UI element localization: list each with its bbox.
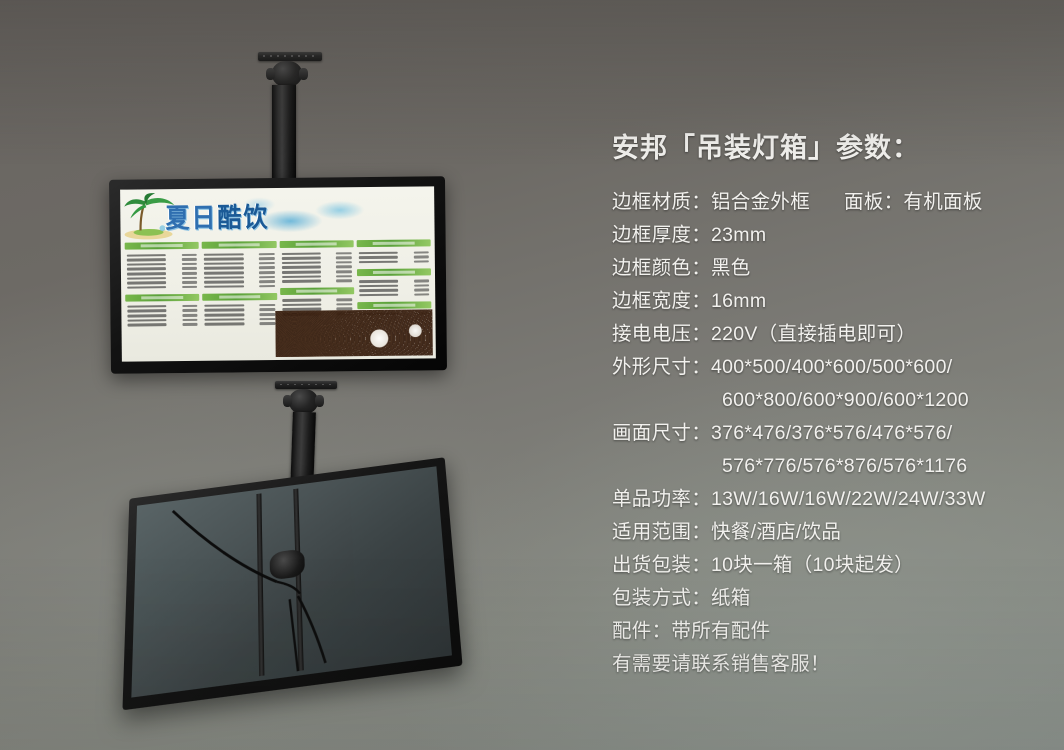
rear-panel bbox=[131, 466, 452, 697]
spec-line-outer-size-cont: 600*800/600*900/600*1200 bbox=[612, 384, 1042, 417]
menu-row bbox=[127, 285, 197, 289]
menu-row bbox=[127, 271, 197, 275]
menu-row bbox=[127, 323, 197, 327]
menu-rows bbox=[202, 251, 277, 290]
spec-line-picture-size-cont: 576*776/576*876/576*1176 bbox=[612, 450, 1042, 483]
menu-row bbox=[359, 260, 429, 264]
menu-row bbox=[359, 255, 429, 259]
spec-title: 安邦「吊装灯箱」参数： bbox=[612, 126, 1042, 165]
poster-hero: 夏日酷饮 bbox=[120, 186, 435, 246]
product-photo-canvas: 夏日酷饮 bbox=[0, 0, 1064, 750]
light-box-upper: 夏日酷饮 bbox=[109, 176, 447, 374]
menu-row bbox=[281, 265, 351, 269]
menu-row bbox=[281, 261, 351, 265]
menu-row bbox=[282, 303, 352, 307]
menu-section-header bbox=[356, 240, 430, 248]
menu-section-header bbox=[357, 268, 431, 276]
swivel-joint-icon bbox=[272, 61, 302, 87]
menu-row bbox=[282, 274, 352, 278]
spec-line-shipping-pack: 出货包装：10块一箱（10块起发） bbox=[612, 549, 1042, 582]
poster-headline-sub: 酷饮 bbox=[217, 203, 269, 234]
menu-row bbox=[127, 267, 197, 271]
joint-nub-icon bbox=[283, 395, 292, 407]
menu-row bbox=[127, 276, 197, 280]
power-cable-icon bbox=[131, 466, 452, 697]
menu-section-header bbox=[279, 241, 353, 249]
menu-row bbox=[359, 288, 429, 292]
menu-column bbox=[125, 242, 200, 359]
menu-row bbox=[127, 258, 197, 262]
drop-pole bbox=[272, 85, 296, 183]
spec-panel-material: 面板：有机面板 bbox=[844, 191, 983, 213]
ceiling-plate-icon bbox=[275, 381, 337, 389]
menu-row bbox=[204, 280, 274, 284]
spec-line-outer-size: 外形尺寸：400*500/400*600/500*600/ bbox=[612, 351, 1042, 384]
menu-row bbox=[205, 317, 275, 321]
coffee-photo bbox=[275, 309, 432, 357]
menu-rows bbox=[125, 303, 200, 328]
spec-line-frame-material: 边框材质：铝合金外框面板：有机面板 bbox=[612, 186, 1042, 219]
menu-row bbox=[204, 275, 274, 279]
menu-row bbox=[204, 252, 274, 256]
menu-row bbox=[127, 281, 197, 285]
menu-row bbox=[282, 298, 352, 302]
joint-nub-icon bbox=[299, 68, 308, 80]
menu-rows bbox=[356, 250, 430, 266]
menu-section-header bbox=[280, 287, 354, 295]
menu-row bbox=[205, 322, 275, 326]
menu-row bbox=[127, 318, 197, 322]
rear-frame bbox=[122, 457, 462, 710]
menu-rows bbox=[203, 303, 278, 328]
menu-section-header bbox=[357, 301, 431, 309]
spec-line-power: 单品功率：13W/16W/16W/22W/24W/33W bbox=[612, 483, 1042, 516]
spec-line-accessories: 配件：带所有配件 bbox=[612, 615, 1042, 648]
spec-line-frame-color: 边框颜色：黑色 bbox=[612, 252, 1042, 285]
menu-column bbox=[202, 241, 277, 358]
spec-frame-material: 边框材质：铝合金外框 bbox=[612, 191, 810, 213]
spec-line-voltage: 接电电压：220V（直接插电即可） bbox=[612, 318, 1042, 351]
joint-nub-icon bbox=[266, 68, 275, 80]
menu-row bbox=[282, 279, 352, 283]
menu-row bbox=[127, 262, 197, 266]
poster-headline: 夏日酷饮 bbox=[165, 195, 269, 235]
menu-row bbox=[205, 313, 275, 317]
spec-line-frame-thickness: 边框厚度：23mm bbox=[612, 219, 1042, 252]
menu-row bbox=[204, 271, 274, 275]
poster-headline-main: 夏日 bbox=[165, 203, 217, 234]
joint-nub-icon bbox=[315, 395, 324, 407]
menu-row bbox=[205, 308, 275, 312]
menu-rows bbox=[357, 278, 431, 299]
menu-row bbox=[127, 314, 197, 318]
spec-panel: 安邦「吊装灯箱」参数： 边框材质：铝合金外框面板：有机面板 边框厚度：23mm … bbox=[612, 126, 1042, 681]
spec-line-pack-method: 包装方式：纸箱 bbox=[612, 582, 1042, 615]
menu-poster: 夏日酷饮 bbox=[120, 186, 436, 361]
menu-section-header bbox=[202, 241, 276, 249]
menu-row bbox=[359, 251, 429, 255]
menu-row bbox=[359, 279, 429, 283]
spec-line-contact: 有需要请联系销售客服！ bbox=[612, 648, 1042, 681]
menu-section-header bbox=[202, 293, 276, 301]
menu-row bbox=[359, 284, 429, 288]
menu-row bbox=[281, 270, 351, 274]
menu-row bbox=[281, 256, 351, 260]
spec-line-picture-size: 画面尺寸：376*476/376*576/476*576/ bbox=[612, 417, 1042, 450]
light-box-lower bbox=[122, 457, 462, 710]
menu-rows bbox=[279, 251, 354, 285]
menu-row bbox=[359, 293, 429, 297]
menu-row bbox=[127, 253, 197, 257]
ceiling-plate-icon bbox=[258, 52, 322, 61]
menu-row bbox=[204, 262, 274, 266]
spec-line-application: 适用范围：快餐/酒店/饮品 bbox=[612, 516, 1042, 549]
swivel-joint-icon bbox=[289, 389, 318, 414]
menu-rows bbox=[125, 252, 200, 291]
menu-row bbox=[205, 304, 275, 308]
spec-line-frame-width: 边框宽度：16mm bbox=[612, 285, 1042, 318]
menu-row bbox=[127, 309, 197, 313]
menu-section-header bbox=[125, 242, 199, 250]
menu-row bbox=[281, 252, 351, 256]
menu-row bbox=[127, 304, 197, 308]
menu-row bbox=[204, 284, 274, 288]
menu-section-header bbox=[125, 293, 199, 301]
menu-row bbox=[204, 257, 274, 261]
menu-row bbox=[204, 266, 274, 270]
